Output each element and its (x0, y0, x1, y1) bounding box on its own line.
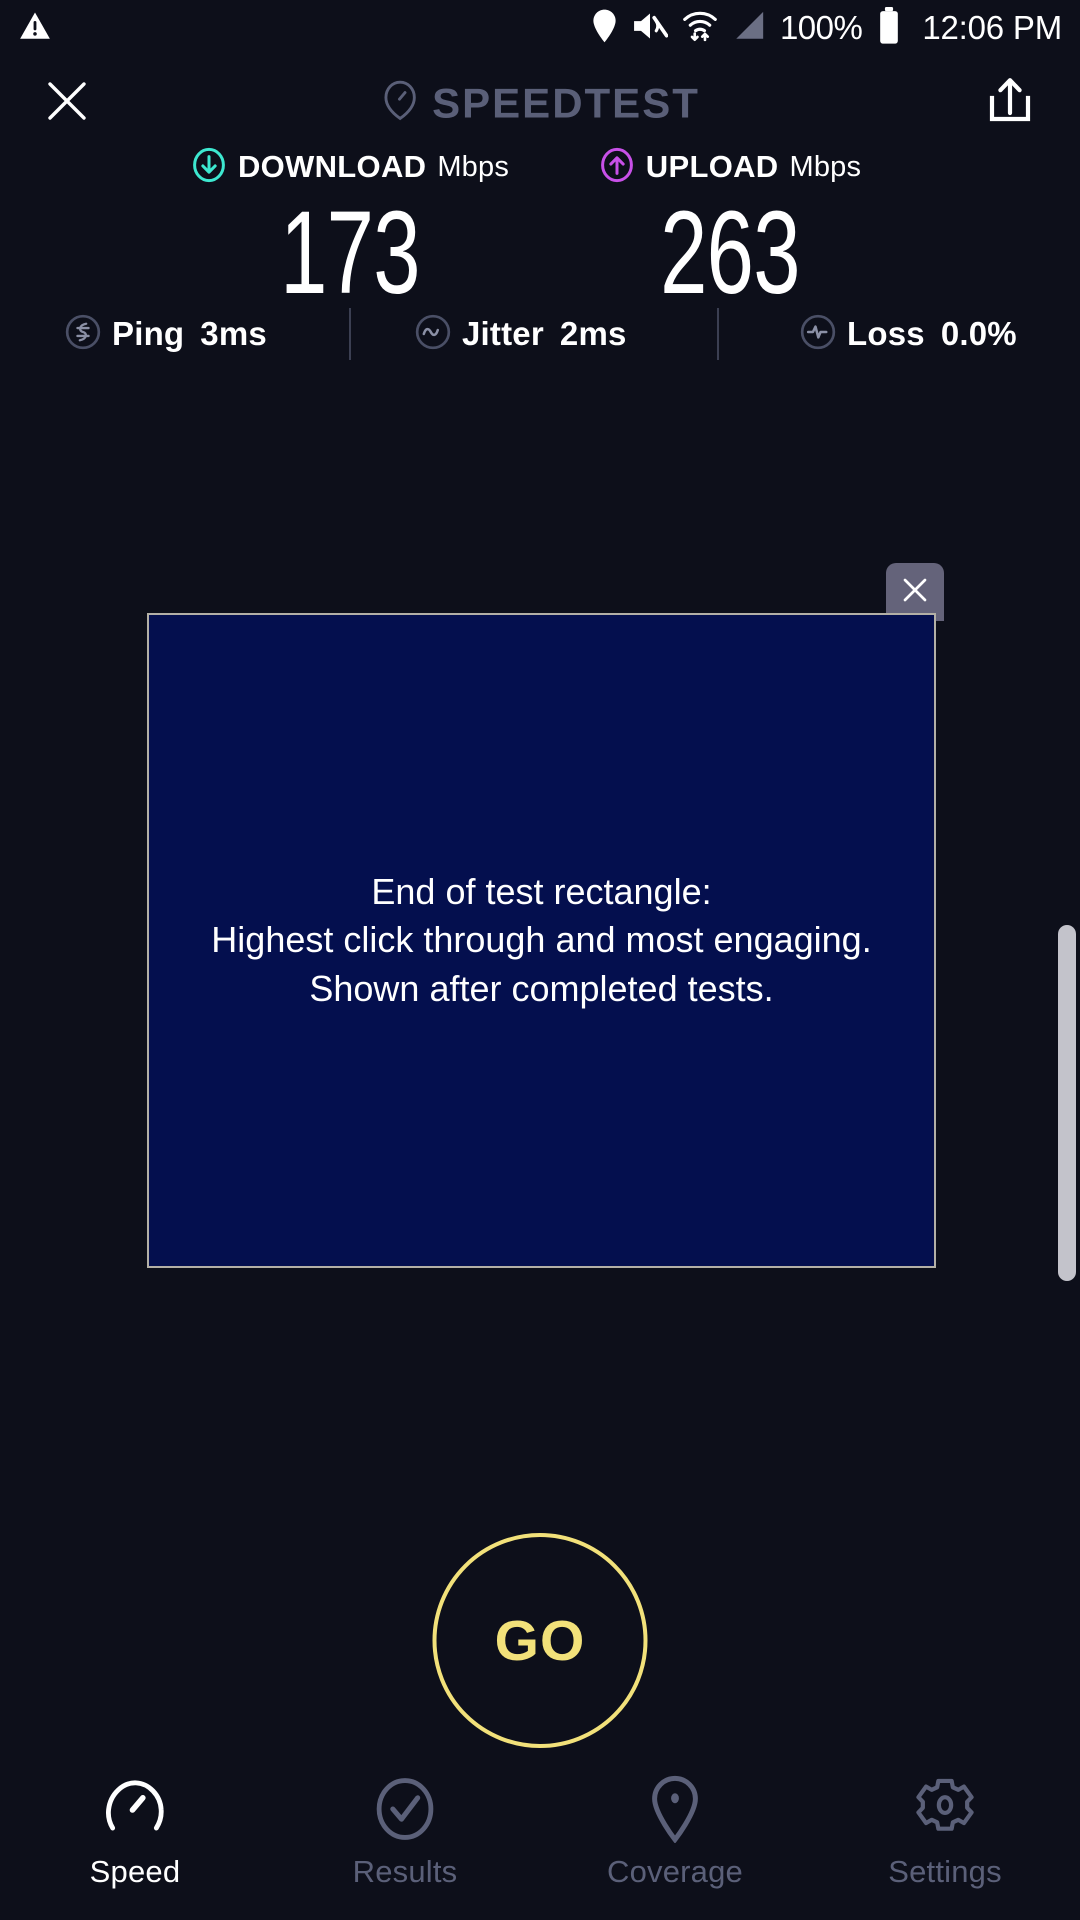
wifi-icon (682, 9, 718, 48)
connection-metrics-row: Ping 3ms Jitter 2ms Loss 0.0 (0, 305, 1080, 363)
close-button[interactable] (36, 72, 98, 134)
speedtest-app-screen: 100% 12:06 PM (0, 0, 1080, 1920)
nav-item-settings[interactable]: Settings (810, 1776, 1080, 1890)
status-bar-left (18, 9, 52, 48)
ad-line-1: End of test rectangle: (211, 868, 871, 917)
nav-label-settings: Settings (888, 1854, 1002, 1890)
go-button-label: GO (495, 1608, 586, 1674)
upload-header: UPLOAD Mbps (599, 144, 861, 190)
upload-value: 263 (660, 194, 800, 312)
download-value: 173 (280, 194, 420, 312)
close-x-icon (43, 77, 91, 130)
test-results-panel: DOWNLOAD Mbps 173 UPLOAD Mbps 263 (0, 144, 1080, 312)
loss-value: 0.0% (941, 315, 1017, 353)
brand-title: SPEEDTEST (432, 79, 700, 127)
go-button[interactable]: GO (433, 1533, 648, 1748)
ad-text: End of test rectangle: Highest click thr… (197, 868, 885, 1014)
warning-triangle-icon (18, 9, 52, 48)
metric-divider-1 (349, 308, 351, 360)
upload-readout: UPLOAD Mbps 263 (540, 144, 920, 312)
speedometer-icon (380, 79, 420, 128)
ad-line-3: Shown after completed tests. (211, 965, 871, 1014)
nav-item-coverage[interactable]: Coverage (540, 1776, 810, 1890)
download-arrow-icon (191, 147, 227, 188)
jitter-icon (414, 313, 452, 356)
download-label: DOWNLOAD (238, 149, 426, 185)
download-header: DOWNLOAD Mbps (191, 144, 509, 190)
nav-label-results: Results (353, 1854, 458, 1890)
advertisement-banner[interactable]: End of test rectangle: Highest click thr… (147, 613, 936, 1268)
location-pin-icon (591, 9, 618, 48)
brand-logo: SPEEDTEST (380, 79, 700, 128)
jitter-value: 2ms (560, 315, 627, 353)
upload-unit: Mbps (789, 151, 861, 184)
volume-muted-icon (632, 10, 668, 47)
upload-label: UPLOAD (646, 149, 779, 185)
battery-full-icon (876, 7, 902, 50)
nav-item-results[interactable]: Results (270, 1776, 540, 1890)
cellular-signal-icon (732, 10, 766, 47)
bottom-navigation: Speed Results Coverage (0, 1760, 1080, 1920)
app-header: SPEEDTEST (0, 62, 1080, 144)
nav-label-speed: Speed (90, 1854, 181, 1890)
share-button[interactable] (980, 73, 1040, 133)
ad-line-2: Highest click through and most engaging. (211, 916, 871, 965)
speedometer-icon (103, 1776, 167, 1842)
upload-arrow-icon (599, 147, 635, 188)
status-bar-right: 100% 12:06 PM (591, 7, 1062, 50)
share-upload-icon (984, 75, 1036, 132)
location-pin-icon (647, 1776, 703, 1842)
nav-label-coverage: Coverage (607, 1854, 743, 1890)
metric-jitter: Jitter 2ms (414, 313, 627, 356)
nav-item-speed[interactable]: Speed (0, 1776, 270, 1890)
download-unit: Mbps (437, 151, 509, 184)
loss-label: Loss (847, 315, 925, 353)
gear-icon (913, 1776, 977, 1842)
metric-divider-2 (717, 308, 719, 360)
jitter-label: Jitter (462, 315, 544, 353)
vertical-scrollbar[interactable] (1058, 925, 1076, 1281)
check-circle-icon (374, 1776, 436, 1842)
loss-icon (799, 313, 837, 356)
ping-icon (64, 313, 102, 356)
download-readout: DOWNLOAD Mbps 173 (160, 144, 540, 312)
metric-loss: Loss 0.0% (799, 313, 1017, 356)
ad-close-x-icon (899, 574, 931, 611)
status-bar: 100% 12:06 PM (0, 0, 1080, 56)
speed-readouts: DOWNLOAD Mbps 173 UPLOAD Mbps 263 (0, 144, 1080, 312)
ping-value: 3ms (200, 315, 267, 353)
ping-label: Ping (112, 315, 184, 353)
clock-label: 12:06 PM (922, 9, 1062, 47)
metric-ping: Ping 3ms (64, 313, 267, 356)
battery-percent-label: 100% (780, 9, 862, 47)
